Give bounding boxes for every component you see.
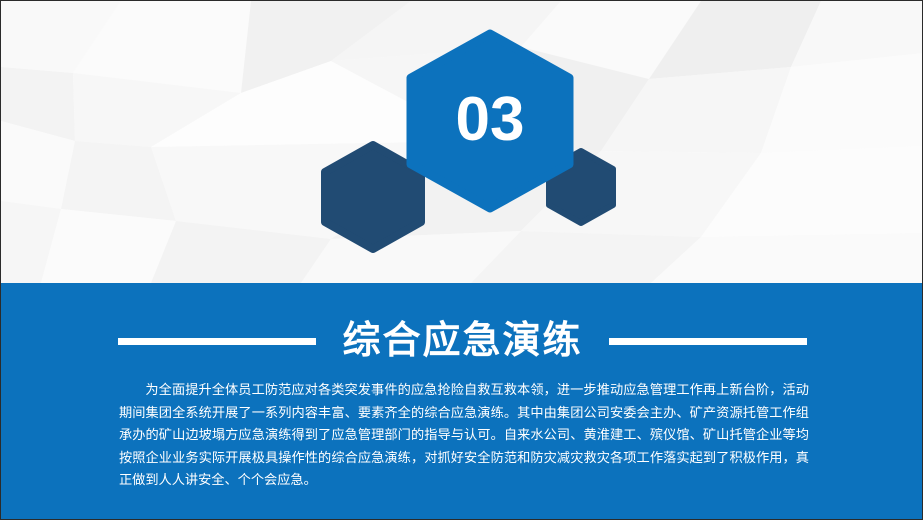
section-slide: 03 综合应急演练 为全面提升全体员工防范应对各类突发事件的应急抢险自救互救本领… (0, 0, 923, 520)
title-row: 综合应急演练 (1, 313, 923, 369)
body-paragraph: 为全面提升全体员工防范应对各类突发事件的应急抢险自救互救本领，进一步推动应急管理… (119, 379, 809, 492)
title-rule-left (118, 338, 316, 345)
page-title: 综合应急演练 (342, 322, 582, 360)
section-number: 03 (406, 31, 574, 209)
body-text-block: 为全面提升全体员工防范应对各类突发事件的应急抢险自救互救本领，进一步推动应急管理… (119, 379, 809, 492)
title-rule-right (609, 338, 807, 345)
